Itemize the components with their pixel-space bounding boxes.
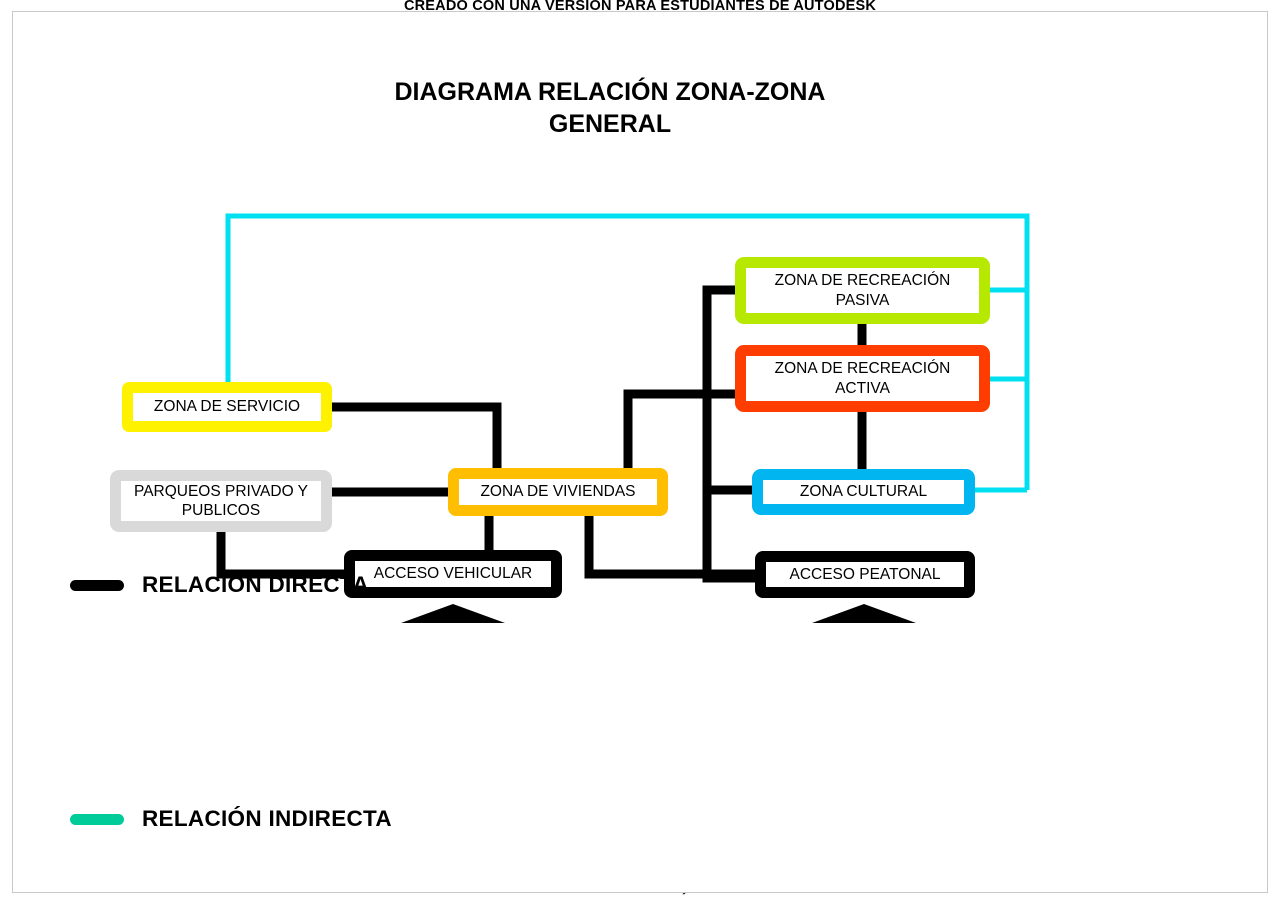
node-label: ZONA DE RECREACIÓN ACTIVA <box>746 359 979 398</box>
entry-arrow-vehicular-icon <box>401 604 505 623</box>
entry-arrow-group <box>401 604 916 623</box>
node-label: ACCESO PEATONAL <box>783 565 946 584</box>
node-zona-de-servicio[interactable]: ZONA DE SERVICIO <box>122 382 332 432</box>
node-label: ZONA DE VIVIENDAS <box>474 482 641 501</box>
direct-edge-parqueos-vehicular <box>221 528 344 574</box>
node-zona-cultural[interactable]: ZONA CULTURAL <box>752 469 975 515</box>
node-acceso-peatonal[interactable]: ACCESO PEATONAL <box>755 551 975 598</box>
direct-edge-servicio-viviendas <box>332 407 497 468</box>
direct-edge-viviendas-peatonal <box>589 516 755 574</box>
direct-edge-viviendas-activa <box>628 394 735 468</box>
legend-swatch-indirect-icon <box>70 814 124 825</box>
entry-arrow-peatonal-icon <box>812 604 916 623</box>
node-label: PARQUEOS PRIVADO Y PUBLICOS <box>121 482 321 521</box>
direct-edge-peatonal-pasiva <box>707 290 755 578</box>
node-zona-de-recreacion-activa[interactable]: ZONA DE RECREACIÓN ACTIVA <box>735 345 990 412</box>
node-label: ZONA DE SERVICIO <box>148 397 306 416</box>
node-label: ACCESO VEHICULAR <box>368 564 538 583</box>
node-parqueos-privado-y-publicos[interactable]: PARQUEOS PRIVADO Y PUBLICOS <box>110 470 332 532</box>
node-zona-de-viviendas[interactable]: ZONA DE VIVIENDAS <box>448 468 668 516</box>
node-label: ZONA DE RECREACIÓN PASIVA <box>746 271 979 310</box>
legend-item-direct: RELACIÓN DIRECTA <box>70 572 369 598</box>
node-acceso-vehicular[interactable]: ACCESO VEHICULAR <box>344 550 562 598</box>
legend-item-indirect: RELACIÓN INDIRECTA <box>70 806 392 832</box>
direct-relations-group <box>221 290 862 578</box>
legend-label-direct: RELACIÓN DIRECTA <box>142 572 369 598</box>
node-zona-de-recreacion-pasiva[interactable]: ZONA DE RECREACIÓN PASIVA <box>735 257 990 324</box>
node-label: ZONA CULTURAL <box>794 482 933 501</box>
legend-swatch-direct-icon <box>70 580 124 591</box>
connector-layer <box>0 0 1280 905</box>
legend-label-indirect: RELACIÓN INDIRECTA <box>142 806 392 832</box>
